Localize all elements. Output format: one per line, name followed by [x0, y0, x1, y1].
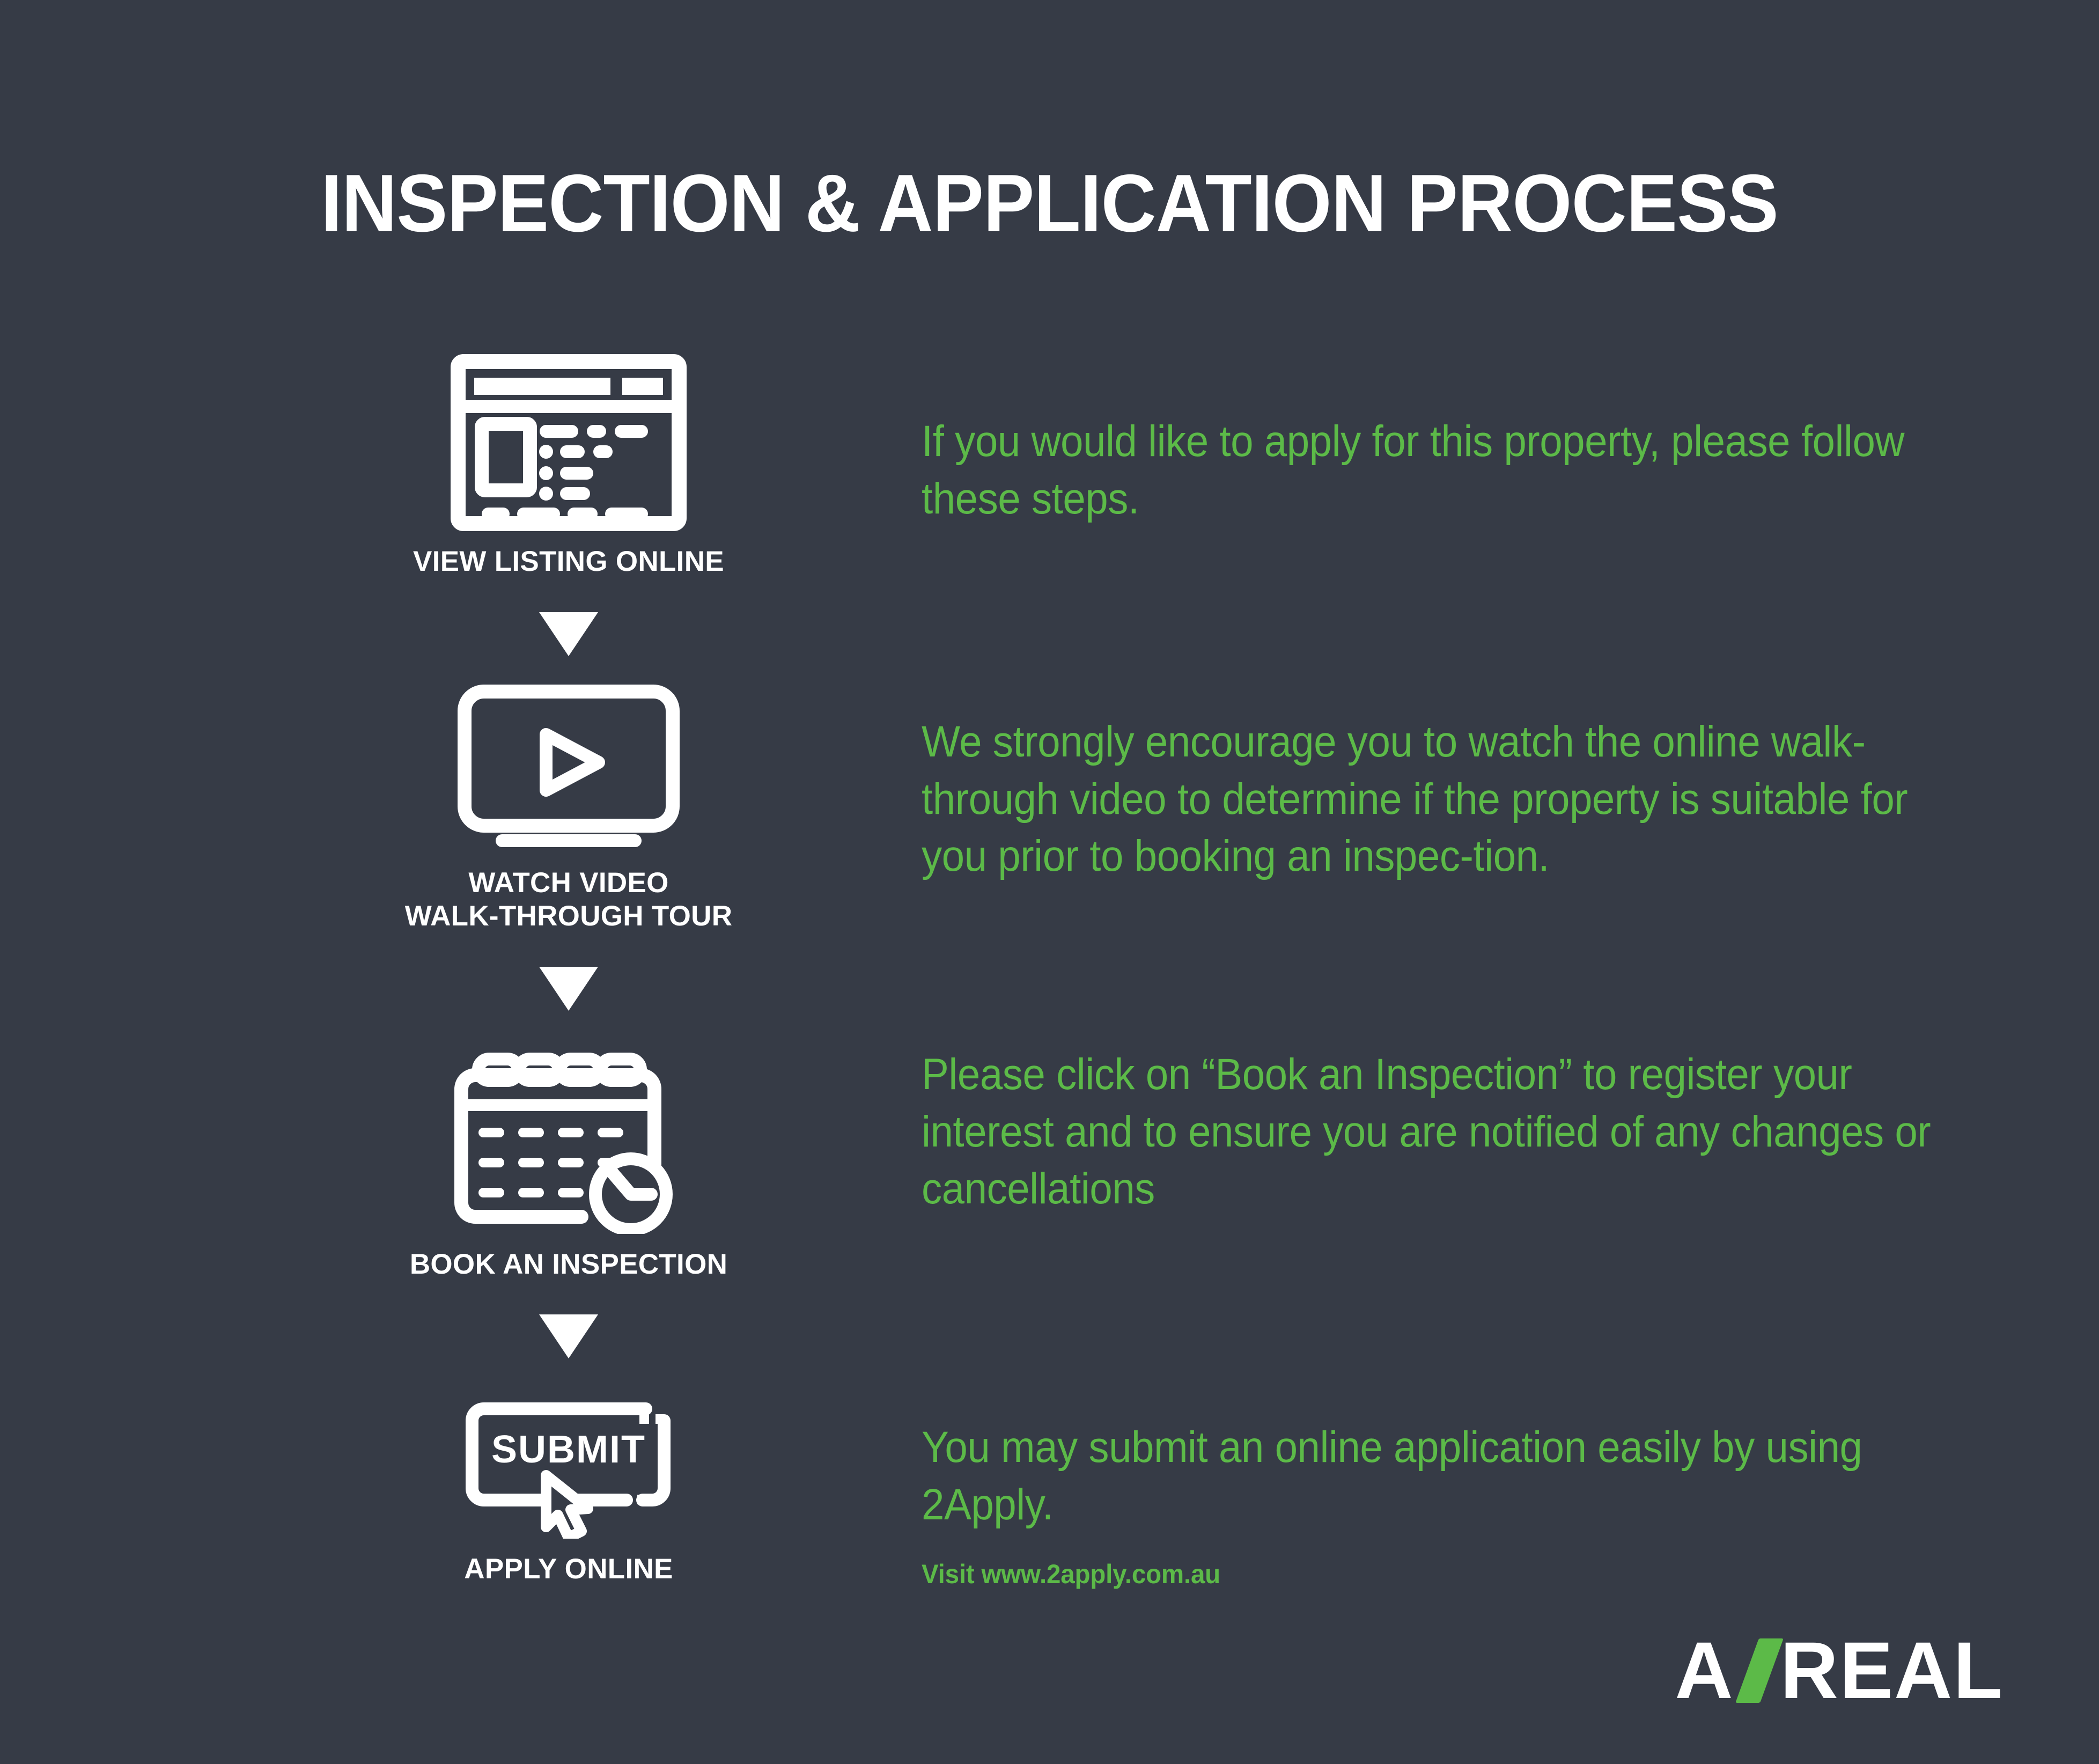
steps-column: VIEW LISTING ONLINE WATCH VIDEO WALK-THR… — [333, 354, 805, 1586]
note-book-inspection: Please click on “Book an Inspection” to … — [922, 1046, 1939, 1218]
note-apply-online: You may submit an online application eas… — [922, 1419, 1939, 1533]
flow-arrow-3 — [333, 1314, 805, 1358]
step-view-listing-online[interactable]: VIEW LISTING ONLINE — [333, 354, 805, 579]
flow-arrow-2 — [333, 967, 805, 1011]
step-label-view-listing-online: VIEW LISTING ONLINE — [333, 545, 805, 579]
visit-2apply-link[interactable]: Visit www.2apply.com.au — [922, 1559, 1220, 1590]
step-label-book-an-inspection: BOOK AN INSPECTION — [333, 1248, 805, 1282]
page-title: INSPECTION & APPLICATION PROCESS — [63, 157, 2036, 251]
submit-button-cursor-icon: SUBMIT — [333, 1383, 805, 1539]
logo-areal[interactable]: A REAL — [1675, 1624, 2004, 1717]
logo-slash-icon — [1735, 1638, 1784, 1703]
calendar-clock-icon — [333, 1035, 805, 1234]
note-watch-video: We strongly encourage you to watch the o… — [922, 714, 1939, 885]
step-label-watch-video: WATCH VIDEO WALK-THROUGH TOUR — [333, 866, 805, 934]
step-book-an-inspection[interactable]: BOOK AN INSPECTION — [333, 1035, 805, 1282]
step-apply-online[interactable]: SUBMIT APPLY ONLINE — [333, 1383, 805, 1586]
flow-arrow-1 — [333, 612, 805, 656]
browser-listing-icon — [333, 354, 805, 531]
note-apply-intro: If you would like to apply for this prop… — [922, 413, 1939, 527]
step-label-apply-online: APPLY ONLINE — [333, 1553, 805, 1586]
logo-word-real: REAL — [1780, 1624, 2004, 1717]
infographic-page: INSPECTION & APPLICATION PROCESS — [0, 0, 2099, 1764]
video-play-monitor-icon — [333, 681, 805, 852]
logo-letter-a: A — [1675, 1624, 1734, 1717]
svg-text:SUBMIT: SUBMIT — [491, 1428, 646, 1471]
step-watch-video[interactable]: WATCH VIDEO WALK-THROUGH TOUR — [333, 681, 805, 934]
